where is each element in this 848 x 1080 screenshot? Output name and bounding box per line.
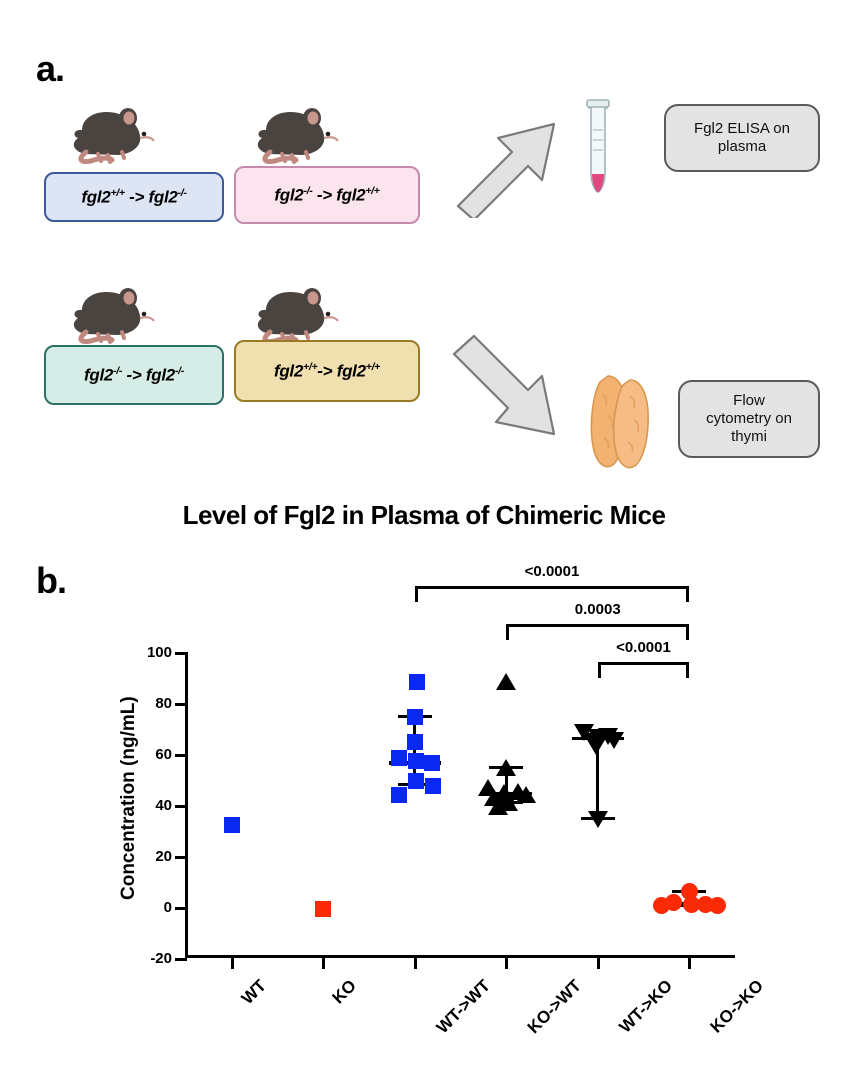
y-axis-tick [175,805,187,808]
data-point-square [407,734,423,750]
data-point-square [391,750,407,766]
y-axis-tick [175,958,187,961]
x-axis-line [185,955,735,958]
significance-bracket-left-tick [506,624,509,640]
y-axis-tick [175,907,187,910]
data-point-triangle-down [588,811,608,828]
significance-bracket-left-tick [415,586,418,602]
block-arrow-icon [444,326,584,446]
significance-bracket-top [598,662,690,665]
x-axis-tick-label: KO->KO [707,976,768,1037]
microcentrifuge-tube-icon [576,96,620,200]
y-axis-tick-label: 60 [118,746,172,763]
y-axis-tick-label: 80 [118,695,172,712]
mouse-icon [68,102,160,164]
significance-bracket-right-tick [686,624,689,640]
process-label: Fgl2 ELISA on plasma [694,120,790,155]
data-point-square [407,709,423,725]
significance-bracket-left-tick [598,662,601,678]
block-arrow-icon [450,108,580,218]
genotype-box-wt-into-ko[interactable]: fgl2+/+ -> fgl2-/- [44,172,224,222]
data-point-triangle-up [496,759,516,776]
panel-b-letter: b. [36,560,66,602]
data-point-triangle-up [516,786,536,803]
data-point-square [408,753,424,769]
panel-a-letter: a. [36,48,64,90]
significance-label: 0.0003 [506,601,689,618]
significance-label: <0.0001 [598,639,690,656]
genotype-label: fgl2-/- -> fgl2+/+ [274,185,379,206]
genotype-box-wt-into-wt[interactable]: fgl2+/+-> fgl2+/+ [234,340,420,402]
genotype-label: fgl2-/- -> fgl2-/- [84,365,184,386]
data-point-square [424,755,440,771]
data-point-square [315,901,331,917]
process-box-flow[interactable]: Flow cytometry on thymi [678,380,820,458]
y-axis-tick-label: 40 [118,797,172,814]
x-axis-tick [231,957,234,969]
mouse-icon [252,102,344,164]
y-axis-tick-label: 0 [118,899,172,916]
significance-bracket-top [506,624,689,627]
data-point-square [409,674,425,690]
data-point-triangle-down [604,732,624,749]
y-axis-tick [175,703,187,706]
x-axis-tick-label: KO->WT [524,976,586,1038]
x-axis-tick [505,957,508,969]
y-axis-tick [175,754,187,757]
mouse-icon [68,282,160,344]
genotype-label: fgl2+/+ -> fgl2-/- [81,187,186,208]
data-point-triangle-down [586,738,606,755]
data-point-circle [683,896,700,913]
x-axis-tick-label: WT->KO [615,976,676,1037]
data-point-circle [653,897,670,914]
genotype-box-ko-into-ko[interactable]: fgl2-/- -> fgl2-/- [44,345,224,405]
y-axis-tick [175,652,187,655]
data-point-triangle-up [496,673,516,690]
genotype-label: fgl2+/+-> fgl2+/+ [274,361,380,382]
x-axis-tick-label: WT->WT [433,976,495,1038]
x-axis-tick [414,957,417,969]
data-point-square [391,787,407,803]
data-point-square [408,773,424,789]
mouse-icon [252,282,344,344]
genotype-box-ko-into-wt[interactable]: fgl2-/- -> fgl2+/+ [234,166,420,224]
x-axis-tick-label: KO [329,976,361,1008]
data-point-triangle-up [488,798,508,815]
x-axis-tick-label: WT [237,976,270,1009]
significance-label: <0.0001 [415,563,690,580]
x-axis-tick [597,957,600,969]
y-axis-tick-label: -20 [118,950,172,967]
significance-bracket-top [415,586,690,589]
x-axis-tick [322,957,325,969]
significance-bracket-right-tick [686,662,689,678]
y-axis-tick-label: 20 [118,848,172,865]
x-axis-tick [688,957,691,969]
data-point-circle [709,897,726,914]
data-point-square [425,778,441,794]
process-box-elisa[interactable]: Fgl2 ELISA on plasma [664,104,820,172]
y-axis-tick [175,856,187,859]
thymus-icon [578,368,666,472]
chart-title: Level of Fgl2 in Plasma of Chimeric Mice [0,500,848,531]
process-label: Flow cytometry on thymi [706,392,792,445]
data-point-square [224,817,240,833]
y-axis-tick-label: 100 [118,644,172,661]
significance-bracket-right-tick [686,586,689,602]
